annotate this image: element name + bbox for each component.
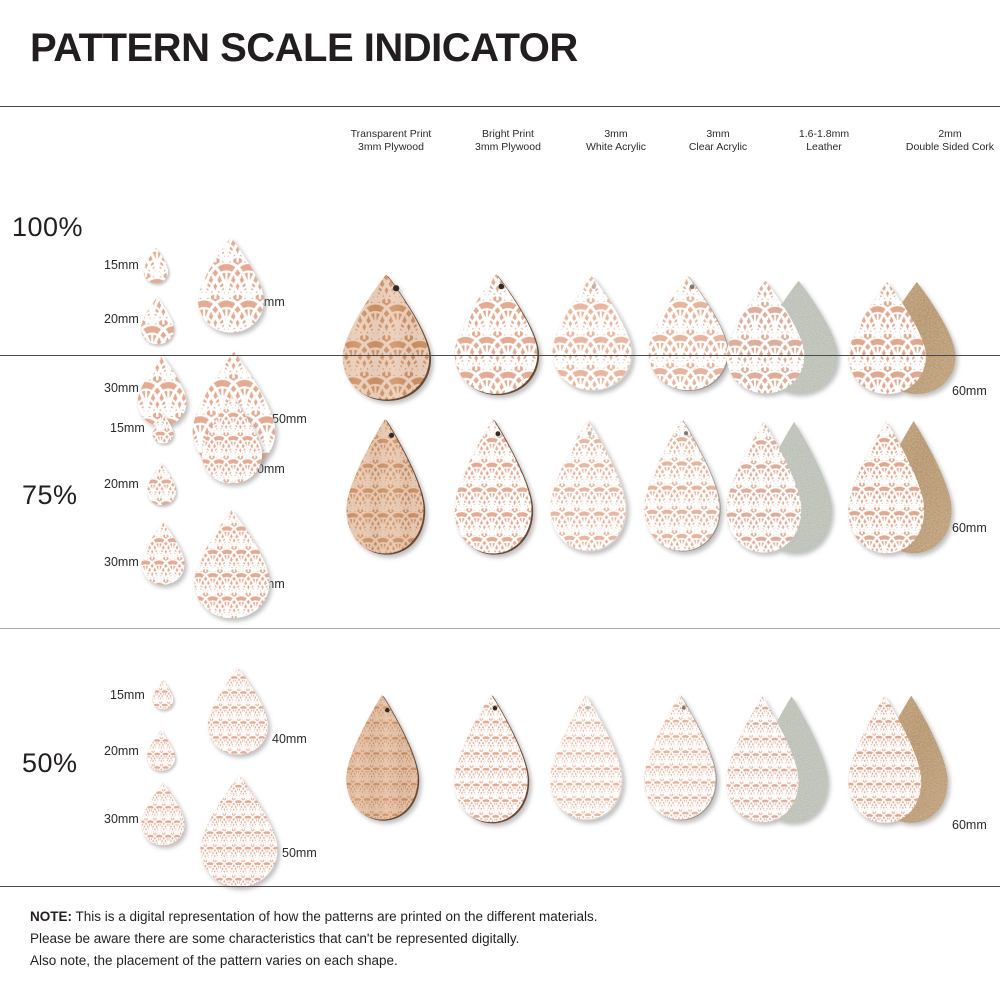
material-drop-transparent-print-plywood-50 (344, 690, 420, 826)
size-drop-15mm-75 (152, 411, 174, 446)
material-drop-clear-acrylic-75 (642, 413, 722, 559)
pattern-scale-indicator-page: PATTERN SCALE INDICATOR Transparent Prin… (0, 0, 1000, 1000)
note-line-3: Also note, the placement of the pattern … (30, 950, 930, 972)
size-label-15mm-100: 15mm (104, 258, 139, 272)
divider-section-3 (0, 886, 1000, 887)
size-drop-40mm-75 (200, 391, 264, 489)
size-label-20mm-75: 20mm (104, 477, 139, 491)
size-label-20mm-50: 20mm (104, 744, 139, 758)
size-drop-20mm-100 (140, 296, 175, 345)
size-drop-30mm-75 (140, 518, 186, 589)
note-line-1: NOTE: This is a digital representation o… (30, 906, 930, 928)
note-prefix: NOTE: (30, 909, 72, 924)
material-drop-transparent-print-plywood-75 (344, 412, 426, 562)
size-drop-30mm-50 (140, 780, 186, 848)
scale-label-50: 50% (22, 748, 78, 779)
size-label-15mm-75: 15mm (110, 421, 145, 435)
material-drop-bright-print-plywood-50 (452, 690, 530, 828)
material-drop-double-sided-cork-50 (846, 691, 950, 829)
size-drop-20mm-75 (146, 460, 177, 508)
size-label-50mm-50: 50mm (282, 846, 317, 860)
material-size-label-60mm-50: 60mm (952, 818, 987, 832)
size-drop-50mm-50 (198, 772, 280, 890)
size-drop-50mm-75 (192, 503, 272, 625)
material-drop-bright-print-plywood-75 (452, 412, 534, 562)
note-block: NOTE: This is a digital representation o… (30, 906, 930, 972)
material-drop-leather-75 (724, 413, 834, 563)
material-drop-double-sided-cork-75 (846, 413, 954, 563)
size-label-30mm-50: 30mm (104, 812, 139, 826)
scale-section-100: 100% 15mm 20mm 30mm 40mm 50mm (0, 106, 1000, 355)
size-drop-20mm-50 (146, 728, 176, 773)
size-drop-40mm-100 (196, 236, 266, 334)
size-drop-15mm-50 (152, 678, 174, 711)
note-text-1: This is a digital representation of how … (72, 909, 598, 924)
size-drop-40mm-50 (206, 664, 270, 758)
scale-label-75: 75% (22, 480, 78, 511)
scale-section-50: 50% 15mm 20mm 30mm 40mm 50mm (0, 628, 1000, 886)
size-label-30mm-75: 30mm (104, 555, 139, 569)
material-drop-clear-acrylic-50 (642, 691, 718, 825)
material-size-label-60mm-75: 60mm (952, 521, 987, 535)
size-label-15mm-50: 15mm (110, 688, 145, 702)
scale-label-100: 100% (12, 212, 83, 243)
note-line-2: Please be aware there are some character… (30, 928, 930, 950)
material-drop-leather-50 (724, 691, 830, 829)
size-drop-15mm-100 (143, 247, 169, 284)
material-drop-white-acrylic-75 (548, 413, 628, 559)
scale-section-75: 75% 15mm 20mm 30mm 40mm 50mm (0, 355, 1000, 628)
material-drop-white-acrylic-50 (548, 691, 624, 825)
size-label-20mm-100: 20mm (104, 312, 139, 326)
size-label-40mm-50: 40mm (272, 732, 307, 746)
page-title: PATTERN SCALE INDICATOR (30, 28, 578, 68)
